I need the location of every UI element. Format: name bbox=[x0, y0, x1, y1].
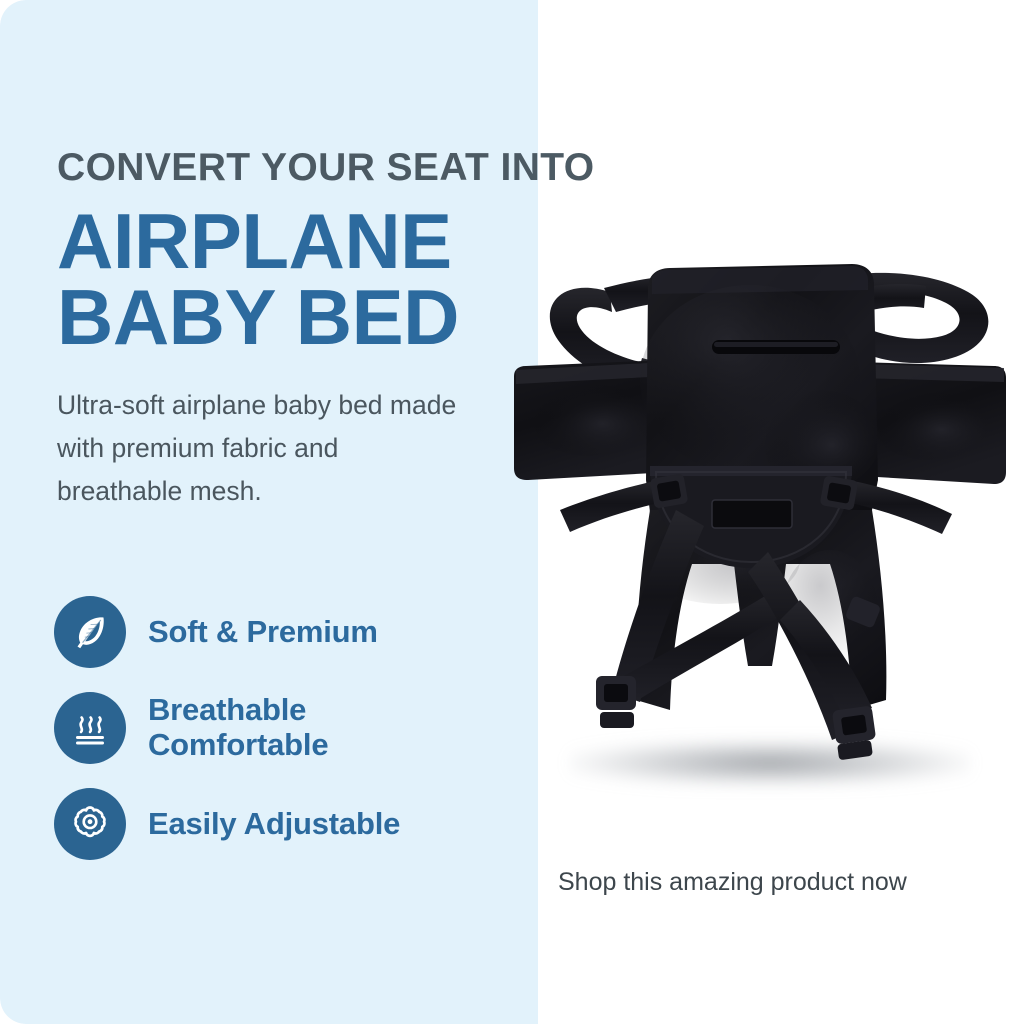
feature-label-breathable-comfortable: Breathable Comfortable bbox=[148, 693, 328, 762]
infographic-canvas: CONVERT YOUR SEAT INTO AIRPLANE BABY BED… bbox=[0, 0, 1024, 1024]
feature-label-line-1: Breathable bbox=[148, 693, 328, 728]
feature-label-soft-premium: Soft & Premium bbox=[148, 615, 378, 650]
subtitle-text: Ultra-soft airplane baby bed made with p… bbox=[57, 384, 457, 513]
product-image bbox=[500, 180, 1024, 820]
right-side-mesh-panel bbox=[856, 362, 1006, 484]
headline-line-2: BABY BED bbox=[57, 279, 527, 355]
hero-text-column: CONVERT YOUR SEAT INTO AIRPLANE BABY BED… bbox=[57, 148, 527, 513]
headline-line-1: AIRPLANE bbox=[57, 203, 527, 279]
feature-label-line-1: Easily Adjustable bbox=[148, 807, 400, 842]
feature-item-breathable-comfortable: Breathable Comfortable bbox=[54, 692, 524, 764]
eyebrow-text: CONVERT YOUR SEAT INTO bbox=[57, 148, 527, 189]
gear-icon bbox=[54, 788, 126, 860]
breathable-heat-icon bbox=[54, 692, 126, 764]
feature-label-line-1: Soft & Premium bbox=[148, 615, 378, 650]
feather-icon bbox=[54, 596, 126, 668]
feature-item-easily-adjustable: Easily Adjustable bbox=[54, 788, 524, 860]
page-title: AIRPLANE BABY BED bbox=[57, 203, 527, 356]
feature-label-line-2: Comfortable bbox=[148, 728, 328, 763]
feature-item-soft-premium: Soft & Premium bbox=[54, 596, 524, 668]
feature-label-easily-adjustable: Easily Adjustable bbox=[148, 807, 400, 842]
feature-list: Soft & Premium Breathable Comfortable bbox=[54, 596, 524, 884]
cta-text: Shop this amazing product now bbox=[558, 868, 907, 897]
airplane-baby-bed-illustration bbox=[500, 180, 1024, 820]
